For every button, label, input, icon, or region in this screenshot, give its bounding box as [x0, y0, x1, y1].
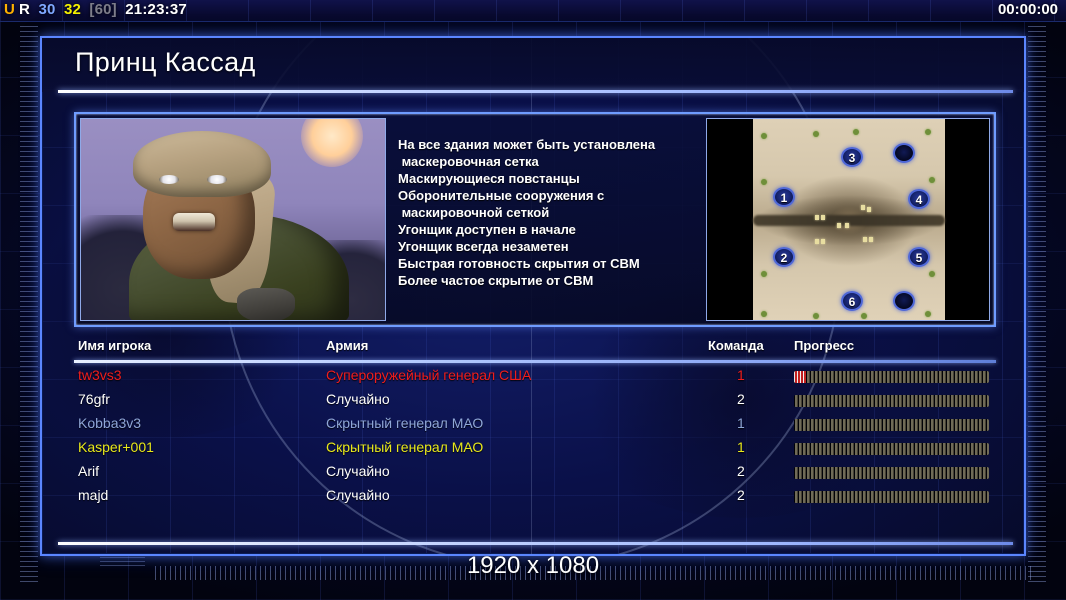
player-name: Kasper+001 [78, 439, 154, 455]
ability-line: маскеровочная сетка [398, 153, 708, 170]
minimap-start-position[interactable]: 4 [908, 189, 930, 209]
status-bar: UR 30 32 [60] 21:23:37 00:00:00 [0, 0, 1066, 22]
panel-bottom-divider [58, 542, 1013, 545]
ability-line: Быстрая готовность скрытия от СВМ [398, 255, 708, 272]
resolution-caption: 1920 x 1080 [0, 552, 1066, 580]
player-army: Случайно [326, 391, 390, 407]
ruler-left-icon [20, 22, 38, 582]
table-row[interactable]: 76gfrСлучайно2 [74, 389, 996, 413]
ability-line: Угонщик всегда незаметен [398, 238, 708, 255]
ability-line: Более частое скрытие от СВМ [398, 272, 708, 289]
header-army: Армия [326, 338, 368, 353]
portrait-eye-right [207, 175, 227, 184]
player-team: 1 [737, 415, 745, 431]
ability-line: Оборонительные сооружения с [398, 187, 708, 204]
minimap-tree-icon [861, 313, 867, 319]
minimap-start-position[interactable]: 6 [841, 291, 863, 311]
minimap-start-position[interactable]: 2 [773, 247, 795, 267]
main-panel: Принц Кассад На все здания может быть ус… [40, 36, 1026, 556]
progress-bar-track [794, 443, 989, 455]
minimap-unit-icon [815, 215, 819, 220]
minimap-tree-icon [761, 271, 767, 277]
general-ability-list: На все здания может быть установлена мас… [398, 136, 708, 289]
ability-line: На все здания может быть установлена [398, 136, 708, 153]
minimap-river [753, 215, 945, 226]
sun-icon [301, 118, 363, 167]
minimap-start-position[interactable]: 5 [908, 247, 930, 267]
minimap-unit-icon [867, 207, 871, 212]
minimap-preview[interactable]: 314256 [706, 118, 990, 321]
minimap-tree-icon [925, 129, 931, 135]
status-timer: 00:00:00 [998, 1, 1058, 18]
player-name: Arif [78, 463, 99, 479]
progress-bar-track [794, 419, 989, 431]
player-team: 1 [737, 439, 745, 455]
title-bar: Принц Кассад [42, 38, 1026, 92]
progress-bar [794, 443, 989, 455]
status-value-b: 32 [64, 1, 81, 18]
progress-bar [794, 419, 989, 431]
ability-line: маскировочной сеткой [398, 204, 708, 221]
status-value-a: 30 [38, 1, 55, 18]
progress-bar [794, 467, 989, 479]
game-lobby-screen: UR 30 32 [60] 21:23:37 00:00:00 Принц Ка… [0, 0, 1066, 600]
minimap-tree-icon [761, 179, 767, 185]
ability-line: Маскирующиеся повстанцы [398, 170, 708, 187]
minimap-tree-icon [813, 313, 819, 319]
progress-bar-track [794, 395, 989, 407]
minimap-tree-icon [761, 133, 767, 139]
ruler-right-icon [1028, 22, 1046, 582]
player-team: 2 [737, 463, 745, 479]
player-army: Случайно [326, 463, 390, 479]
minimap-unit-icon [821, 239, 825, 244]
progress-bar-fill [794, 371, 806, 383]
player-team: 2 [737, 391, 745, 407]
table-header-row: Имя игрока Армия Команда Прогресс [74, 338, 996, 360]
minimap-unit-icon [821, 215, 825, 220]
title-divider [58, 90, 1013, 93]
page-title: Принц Кассад [75, 47, 256, 78]
player-army: Случайно [326, 487, 390, 503]
minimap-start-position[interactable] [893, 291, 915, 311]
minimap-unit-icon [815, 239, 819, 244]
status-prefix-u: U [4, 1, 15, 18]
player-army: Супероружейный генерал США [326, 367, 531, 383]
minimap-start-position[interactable]: 1 [773, 187, 795, 207]
portrait-eye-left [159, 175, 179, 184]
table-row[interactable]: Kobba3v3Скрытный генерал МАО1 [74, 413, 996, 437]
table-row[interactable]: tw3vs3Супероружейный генерал США1 [74, 365, 996, 389]
table-row[interactable]: ArifСлучайно2 [74, 461, 996, 485]
minimap-tree-icon [813, 131, 819, 137]
progress-bar-track [794, 371, 989, 383]
minimap-tree-icon [929, 271, 935, 277]
progress-bar-track [794, 491, 989, 503]
minimap-start-position[interactable] [893, 143, 915, 163]
player-name: majd [78, 487, 108, 503]
player-team: 2 [737, 487, 745, 503]
portrait-teapot [237, 288, 295, 321]
status-clock: 21:23:37 [125, 1, 187, 18]
minimap-tree-icon [925, 311, 931, 317]
status-prefix-r: R [19, 1, 30, 18]
minimap-unit-icon [845, 223, 849, 228]
portrait-turban [133, 131, 271, 197]
ability-line: Угонщик доступен в начале [398, 221, 708, 238]
progress-bar-track [794, 467, 989, 479]
table-row[interactable]: Kasper+001Скрытный генерал МАО1 [74, 437, 996, 461]
minimap-start-position[interactable]: 3 [841, 147, 863, 167]
general-info-row: На все здания может быть установлена мас… [74, 112, 996, 327]
minimap-unit-icon [837, 223, 841, 228]
table-header-divider [74, 360, 996, 363]
portrait-mouth [173, 213, 215, 231]
player-name: 76gfr [78, 391, 110, 407]
minimap-unit-icon [863, 237, 867, 242]
player-table: Имя игрока Армия Команда Прогресс tw3vs3… [74, 338, 996, 538]
player-name: Kobba3v3 [78, 415, 141, 431]
minimap-tree-icon [853, 129, 859, 135]
minimap-tree-icon [761, 311, 767, 317]
player-name: tw3vs3 [78, 367, 122, 383]
table-body: tw3vs3Супероружейный генерал США176gfrСл… [74, 365, 996, 509]
progress-bar [794, 395, 989, 407]
status-bar-left: UR 30 32 [60] 21:23:37 [4, 1, 191, 18]
player-army: Скрытный генерал МАО [326, 439, 483, 455]
minimap-unit-icon [861, 205, 865, 210]
header-player-name: Имя игрока [78, 338, 151, 353]
table-row[interactable]: majdСлучайно2 [74, 485, 996, 509]
player-team: 1 [737, 367, 745, 383]
minimap-unit-icon [869, 237, 873, 242]
player-army: Скрытный генерал МАО [326, 415, 483, 431]
minimap-tree-icon [929, 177, 935, 183]
progress-bar [794, 491, 989, 503]
header-progress: Прогресс [794, 338, 854, 353]
progress-bar [794, 371, 989, 383]
header-team: Команда [708, 338, 764, 353]
general-portrait [80, 118, 386, 321]
status-value-c: [60] [89, 1, 116, 18]
minimap-terrain: 314256 [753, 119, 945, 321]
